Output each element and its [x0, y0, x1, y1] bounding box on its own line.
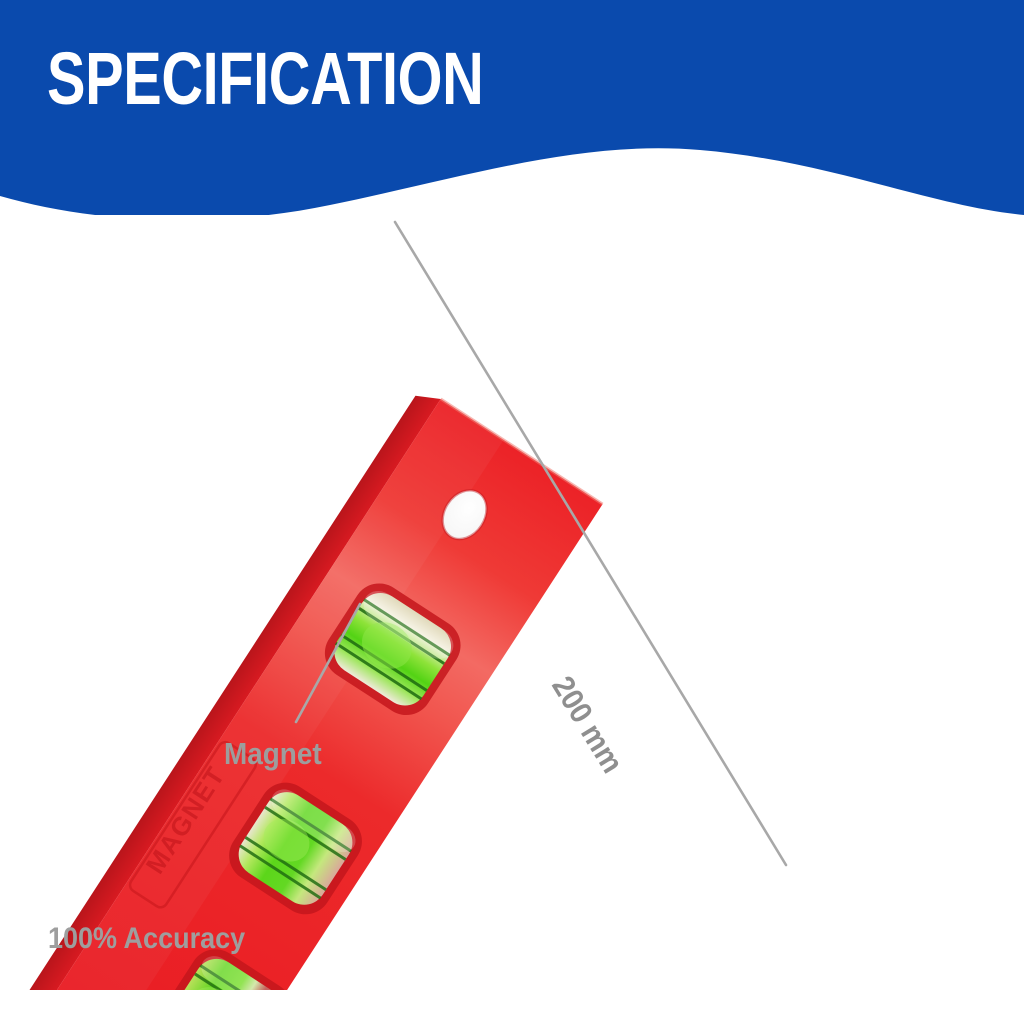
accuracy-note-label: 100% Accuracy	[48, 922, 245, 956]
header-banner: SPECIFICATION	[0, 0, 1024, 215]
magnet-callout-label: Magnet	[224, 736, 322, 772]
page-title: SPECIFICATION	[47, 42, 483, 116]
specification-infographic: SPECIFICATION	[0, 0, 1024, 1024]
bottom-clip-mask	[0, 990, 1024, 1024]
spirit-level-illustration: MAGNET	[0, 200, 1024, 1024]
product-photo-area: MAGNET	[0, 200, 1024, 1024]
